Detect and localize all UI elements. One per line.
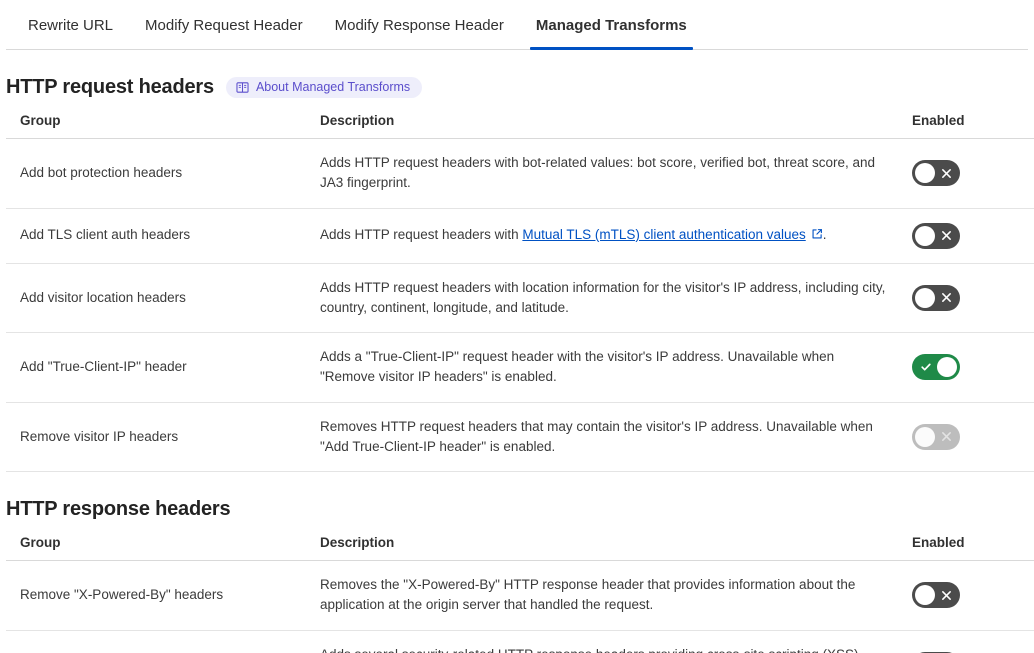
row-enabled-cell bbox=[912, 561, 1034, 631]
row-description: Removes HTTP request headers that may co… bbox=[312, 402, 912, 472]
about-badge-label: About Managed Transforms bbox=[256, 81, 410, 94]
table-row: Add TLS client auth headers Adds HTTP re… bbox=[6, 208, 1034, 263]
tab-modify-request-header[interactable]: Modify Request Header bbox=[129, 0, 319, 50]
close-icon bbox=[941, 285, 952, 311]
managed-transforms-page: Rewrite URL Modify Request Header Modify… bbox=[0, 0, 1034, 653]
row-group-name: Add security headers bbox=[6, 630, 312, 653]
close-icon bbox=[941, 160, 952, 186]
toggle-knob bbox=[915, 288, 935, 308]
response-headers-table: Group Description Enabled Remove "X-Powe… bbox=[6, 535, 1034, 653]
row-group-name: Remove "X-Powered-By" headers bbox=[6, 561, 312, 631]
tab-label: Modify Request Header bbox=[145, 17, 303, 34]
section-header: HTTP response headers bbox=[6, 472, 1028, 535]
about-managed-transforms-badge[interactable]: About Managed Transforms bbox=[226, 77, 422, 98]
column-header-group: Group bbox=[6, 113, 312, 139]
row-description: Adds HTTP request headers with Mutual TL… bbox=[312, 208, 912, 263]
table-row: Add security headers Adds several securi… bbox=[6, 630, 1034, 653]
row-group-name: Add TLS client auth headers bbox=[6, 208, 312, 263]
section-title: HTTP request headers bbox=[6, 76, 214, 99]
row-group-name: Add visitor location headers bbox=[6, 263, 312, 333]
row-description: Adds a "True-Client-IP" request header w… bbox=[312, 333, 912, 403]
toggle-knob bbox=[915, 585, 935, 605]
table-row: Add visitor location headers Adds HTTP r… bbox=[6, 263, 1034, 333]
toggle-knob bbox=[915, 163, 935, 183]
toggle-add-visitor-location-headers[interactable] bbox=[912, 285, 960, 311]
tab-label: Managed Transforms bbox=[536, 17, 687, 34]
table-row: Remove visitor IP headers Removes HTTP r… bbox=[6, 402, 1034, 472]
row-enabled-cell bbox=[912, 402, 1034, 472]
mtls-documentation-link[interactable]: Mutual TLS (mTLS) client authentication … bbox=[522, 227, 805, 242]
toggle-knob bbox=[915, 226, 935, 246]
column-header-description: Description bbox=[312, 535, 912, 561]
row-enabled-cell bbox=[912, 630, 1034, 653]
column-header-enabled: Enabled bbox=[912, 113, 1034, 139]
external-link-icon[interactable] bbox=[811, 226, 823, 246]
table-row: Add "True-Client-IP" header Adds a "True… bbox=[6, 333, 1034, 403]
section-title: HTTP response headers bbox=[6, 498, 230, 521]
row-description: Removes the "X-Powered-By" HTTP response… bbox=[312, 561, 912, 631]
row-description: Adds several security-related HTTP respo… bbox=[312, 630, 912, 653]
row-description: Adds HTTP request headers with bot-relat… bbox=[312, 139, 912, 209]
row-enabled-cell bbox=[912, 139, 1034, 209]
request-headers-table: Group Description Enabled Add bot protec… bbox=[6, 113, 1034, 472]
toggle-add-bot-protection-headers[interactable] bbox=[912, 160, 960, 186]
section-http-response-headers: HTTP response headers Group Description … bbox=[0, 472, 1034, 653]
row-group-name: Remove visitor IP headers bbox=[6, 402, 312, 472]
table-header-row: Group Description Enabled bbox=[6, 535, 1034, 561]
tab-bar: Rewrite URL Modify Request Header Modify… bbox=[0, 0, 1034, 50]
table-row: Add bot protection headers Adds HTTP req… bbox=[6, 139, 1034, 209]
toggle-remove-x-powered-by-headers[interactable] bbox=[912, 582, 960, 608]
section-header: HTTP request headers About Managed Trans… bbox=[6, 50, 1028, 113]
toggle-remove-visitor-ip-headers bbox=[912, 424, 960, 450]
book-icon bbox=[236, 81, 249, 94]
tab-label: Rewrite URL bbox=[28, 17, 113, 34]
row-enabled-cell bbox=[912, 333, 1034, 403]
column-header-group: Group bbox=[6, 535, 312, 561]
close-icon bbox=[941, 582, 952, 608]
row-group-name: Add "True-Client-IP" header bbox=[6, 333, 312, 403]
tab-rewrite-url[interactable]: Rewrite URL bbox=[12, 0, 129, 50]
row-group-name: Add bot protection headers bbox=[6, 139, 312, 209]
row-enabled-cell bbox=[912, 208, 1034, 263]
column-header-description: Description bbox=[312, 113, 912, 139]
table-row: Remove "X-Powered-By" headers Removes th… bbox=[6, 561, 1034, 631]
tab-modify-response-header[interactable]: Modify Response Header bbox=[319, 0, 520, 50]
toggle-knob bbox=[937, 357, 957, 377]
table-header-row: Group Description Enabled bbox=[6, 113, 1034, 139]
column-header-enabled: Enabled bbox=[912, 535, 1034, 561]
toggle-knob bbox=[915, 427, 935, 447]
row-enabled-cell bbox=[912, 263, 1034, 333]
description-prefix: Adds HTTP request headers with bbox=[320, 227, 522, 242]
toggle-add-tls-client-auth-headers[interactable] bbox=[912, 223, 960, 249]
description-suffix: . bbox=[823, 227, 827, 242]
toggle-add-true-client-ip-header[interactable] bbox=[912, 354, 960, 380]
tab-managed-transforms[interactable]: Managed Transforms bbox=[520, 0, 703, 50]
close-icon bbox=[941, 223, 952, 249]
section-http-request-headers: HTTP request headers About Managed Trans… bbox=[0, 50, 1034, 472]
row-description: Adds HTTP request headers with location … bbox=[312, 263, 912, 333]
check-icon bbox=[920, 354, 932, 380]
close-icon bbox=[941, 424, 952, 450]
tab-label: Modify Response Header bbox=[335, 17, 504, 34]
